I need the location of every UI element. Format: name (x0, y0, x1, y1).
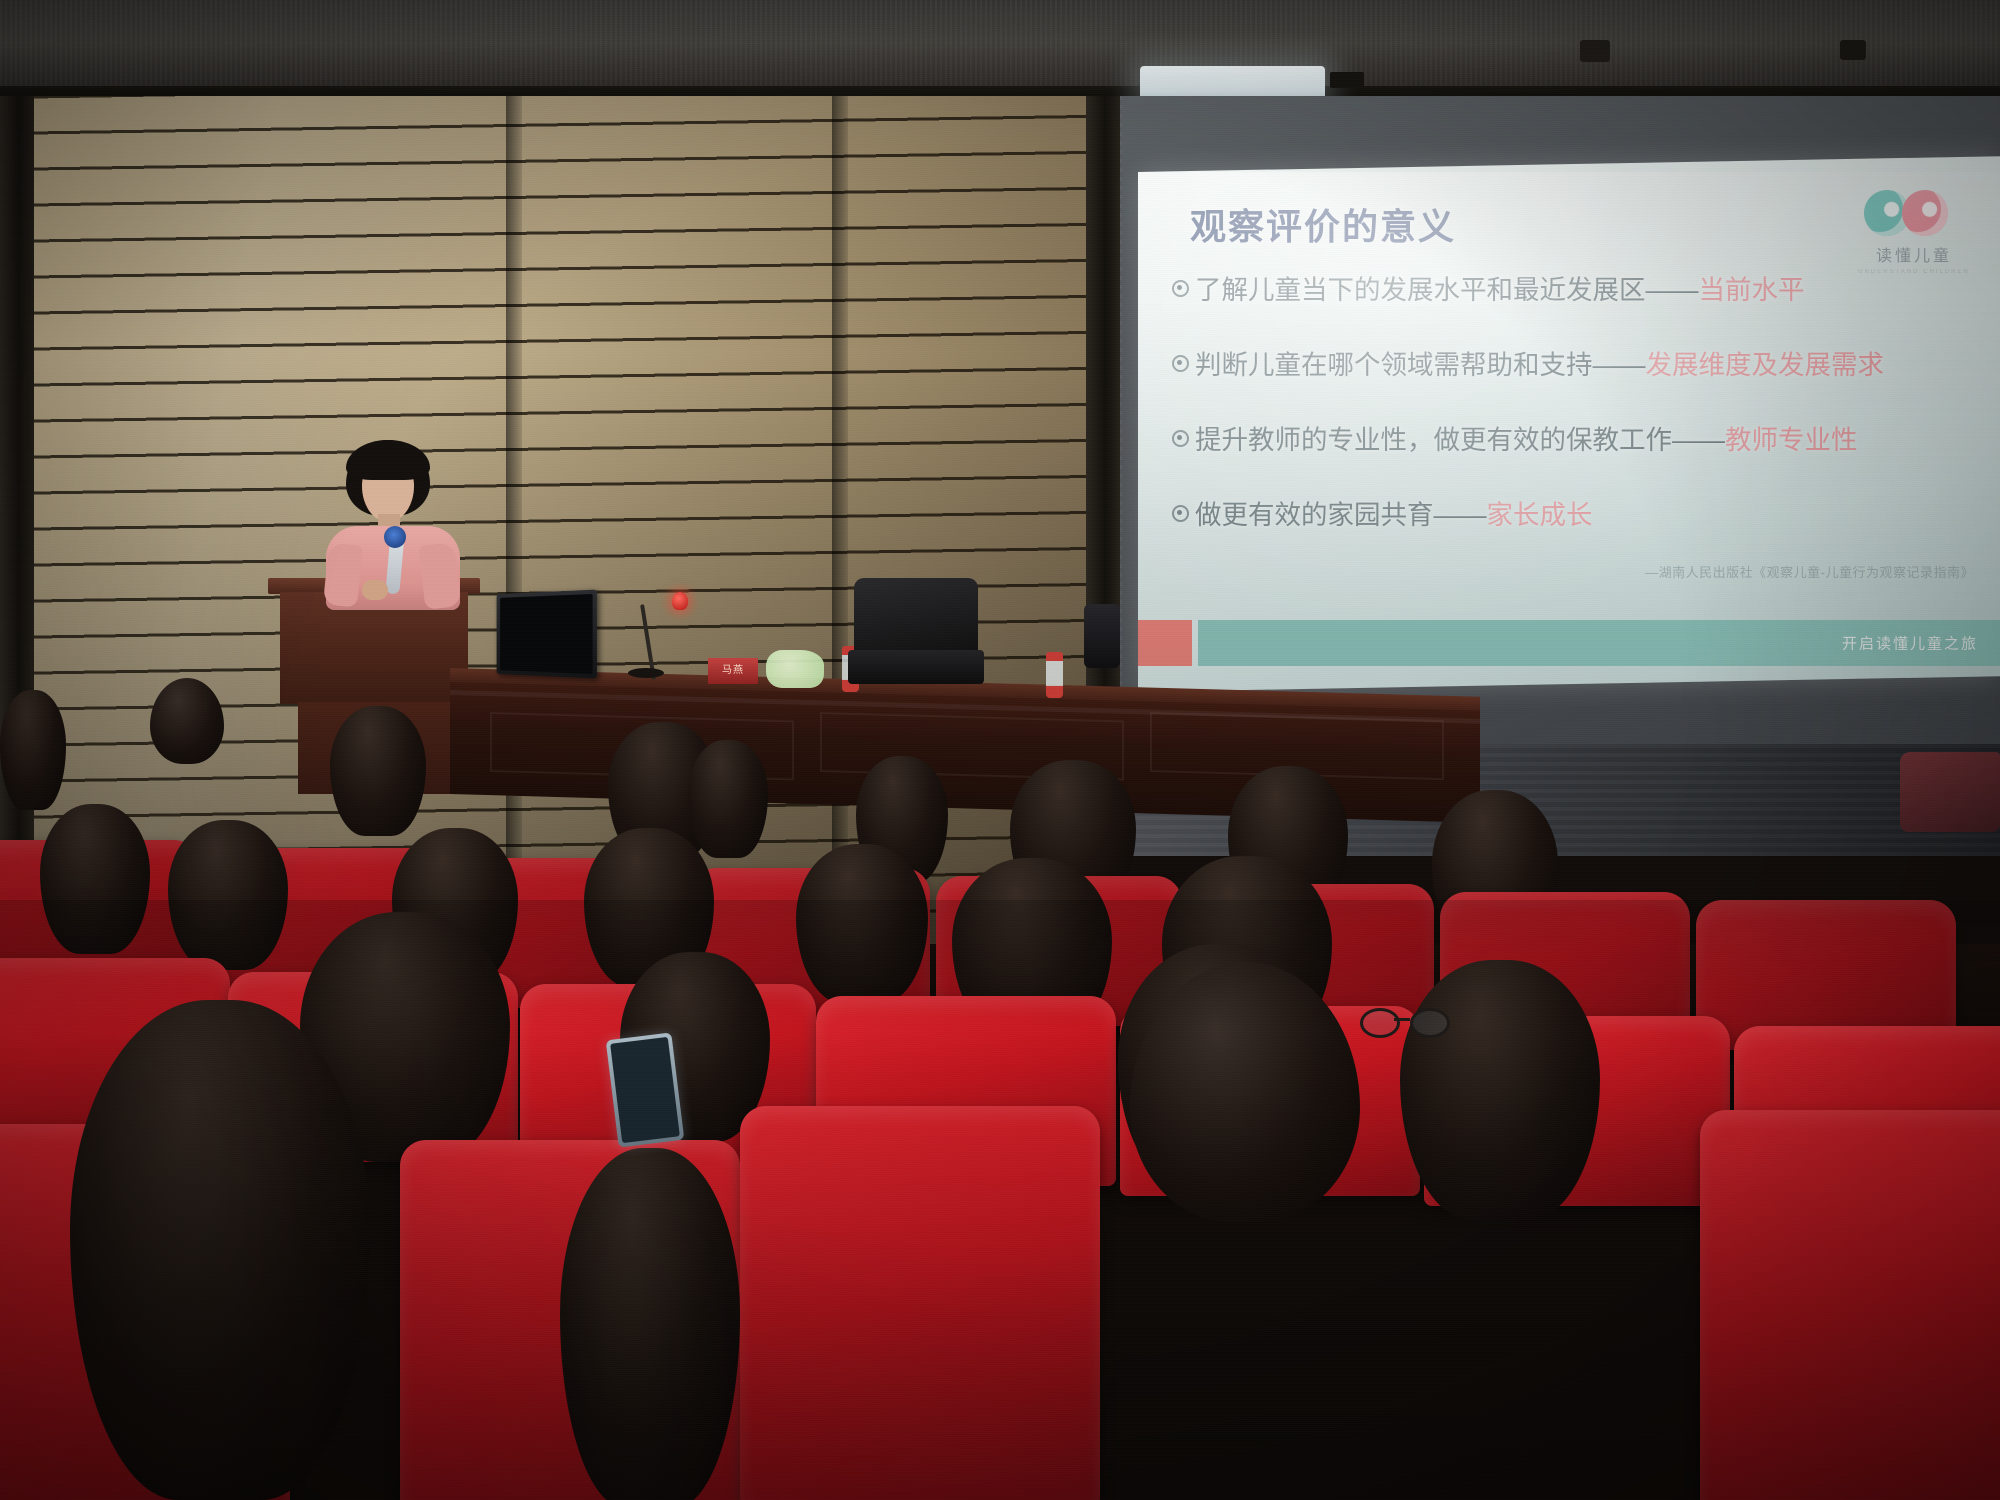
auditorium-seat (740, 1106, 1100, 1500)
bullet-accent: 当前水平 (1699, 268, 1805, 307)
presenter-fringe (346, 440, 430, 480)
bullet-text: 提升教师的专业性，做更有效的保教工作—— (1195, 418, 1725, 457)
audience-head (0, 690, 66, 810)
green-bag (766, 650, 824, 688)
slide-title: 观察评价的意义 (1190, 198, 1456, 250)
water-bottle-right (1046, 652, 1063, 698)
eyeglasses-icon (1360, 1008, 1446, 1034)
bullet-text: 判断儿童在哪个领域需帮助和支持—— (1195, 343, 1646, 382)
bullet-dot-icon (1172, 430, 1189, 447)
wall-seam-1 (506, 96, 522, 956)
footer-tagline: 开启读懂儿童之旅 (1842, 633, 1978, 654)
chair-seat (848, 650, 984, 684)
microphone-base (628, 668, 664, 678)
bullet-accent: 教师专业性 (1725, 418, 1858, 457)
audience-head (560, 1148, 740, 1500)
microphone-head-icon (384, 526, 406, 548)
slide-citation: —湖南人民出版社《观察儿童-儿童行为观察记录指南》 (1645, 562, 1974, 581)
laptop-screen (500, 594, 593, 674)
projection-screen: 观察评价的意义 读懂儿童 UNDERSTAND CHILDREN 了解儿童当下的… (1138, 156, 2000, 692)
slide-footer-bar: 开启读懂儿童之旅 (1138, 620, 2000, 666)
name-card: 马燕 (708, 658, 758, 684)
audience-head (796, 844, 928, 1004)
footer-coral-block (1138, 620, 1192, 666)
laptop (497, 590, 597, 679)
audience-head (70, 1000, 370, 1500)
ceiling-spotlight-right (1840, 40, 1866, 60)
ceiling (0, 0, 2000, 96)
logo-spiral-pink-icon (1902, 190, 1948, 236)
chair-backrest (854, 578, 978, 656)
slide-bullet: 判断儿童在哪个领域需帮助和支持—— 发展维度及发展需求 (1172, 343, 1980, 382)
audience-head (150, 678, 224, 764)
wall-shading (0, 96, 1120, 956)
audience-head (330, 706, 426, 836)
bullet-dot-icon (1172, 355, 1189, 372)
lecture-hall-photo: 观察评价的意义 读懂儿童 UNDERSTAND CHILDREN 了解儿童当下的… (0, 0, 2000, 1500)
audience-head (1400, 960, 1600, 1220)
bullet-accent: 发展维度及发展需求 (1646, 343, 1885, 382)
bullet-dot-icon (1172, 280, 1189, 297)
bag-on-right (1900, 752, 2000, 832)
audience-head (688, 740, 768, 858)
bullet-text: 做更有效的家园共育—— (1195, 493, 1487, 532)
presenter-hand (362, 580, 388, 600)
microphone-led-icon (672, 592, 688, 610)
presenter (318, 440, 468, 600)
slide-bullet: 提升教师的专业性，做更有效的保教工作—— 教师专业性 (1172, 418, 1980, 457)
slide-surface: 观察评价的意义 读懂儿童 UNDERSTAND CHILDREN 了解儿童当下的… (1138, 172, 2000, 692)
auditorium-seat (1700, 1110, 2000, 1500)
ceiling-speaker-box (1330, 72, 1364, 88)
slide-bullet: 了解儿童当下的发展水平和最近发展区—— 当前水平 (1172, 268, 1980, 307)
presenter-left-arm (323, 542, 363, 607)
stage-chair-secondary (1084, 604, 1120, 668)
stage-chair (848, 578, 984, 688)
bullet-accent: 家长成长 (1487, 493, 1593, 532)
logo-brand-name: 读懂儿童 (1850, 242, 1978, 266)
wall-seam-2 (832, 96, 848, 956)
name-card-text: 马燕 (708, 658, 758, 684)
slide-bullet: 做更有效的家园共育—— 家长成长 (1172, 493, 1980, 532)
audience-head (168, 820, 288, 970)
audience-head (40, 804, 150, 954)
phone-screen[interactable] (606, 1032, 685, 1147)
bullet-dot-icon (1172, 505, 1189, 522)
slat-wood-wall (0, 96, 1120, 956)
logo-spiral-marks (1850, 186, 1978, 240)
ceiling-spotlight-left (1580, 40, 1610, 62)
footer-teal-block: 开启读懂儿童之旅 (1198, 620, 2000, 666)
bullet-text: 了解儿童当下的发展水平和最近发展区—— (1195, 268, 1699, 307)
presenter-right-arm (419, 542, 461, 609)
slide-bullet-list: 了解儿童当下的发展水平和最近发展区—— 当前水平 判断儿童在哪个领域需帮助和支持… (1172, 268, 1980, 568)
